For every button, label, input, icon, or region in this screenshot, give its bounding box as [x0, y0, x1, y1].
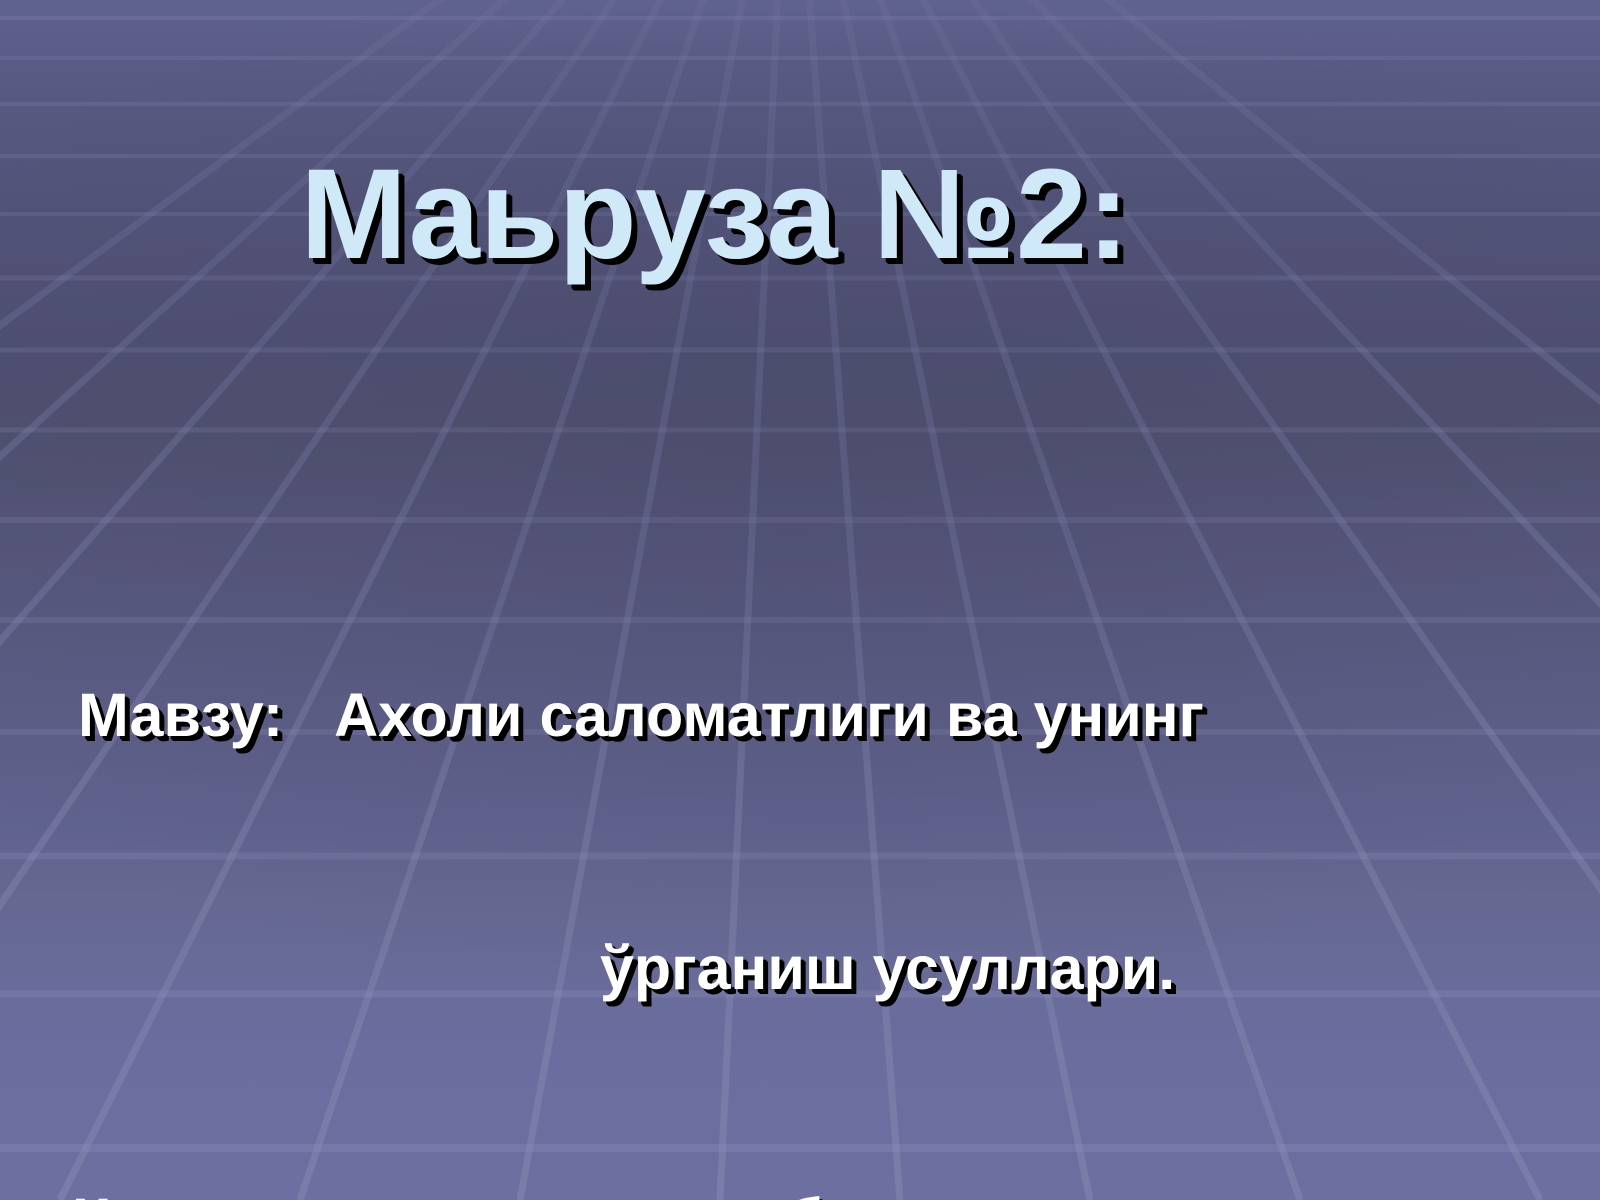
body-line-2: ўрганиш усуллари.	[0, 926, 1600, 1010]
slide-title: Маьруза №2:	[0, 148, 1600, 282]
presentation-slide: Маьруза №2: Мавзу: Ахоли саломатлиги ва …	[0, 0, 1600, 1200]
body-line-1: Мавзу: Ахоли саломатлиги ва унинг	[0, 673, 1600, 757]
slide-body: Мавзу: Ахоли саломатлиги ва унинг ўргани…	[0, 505, 1600, 1200]
body-line-3: Касалланишни келтириб чиқарувчи	[0, 1178, 1600, 1200]
